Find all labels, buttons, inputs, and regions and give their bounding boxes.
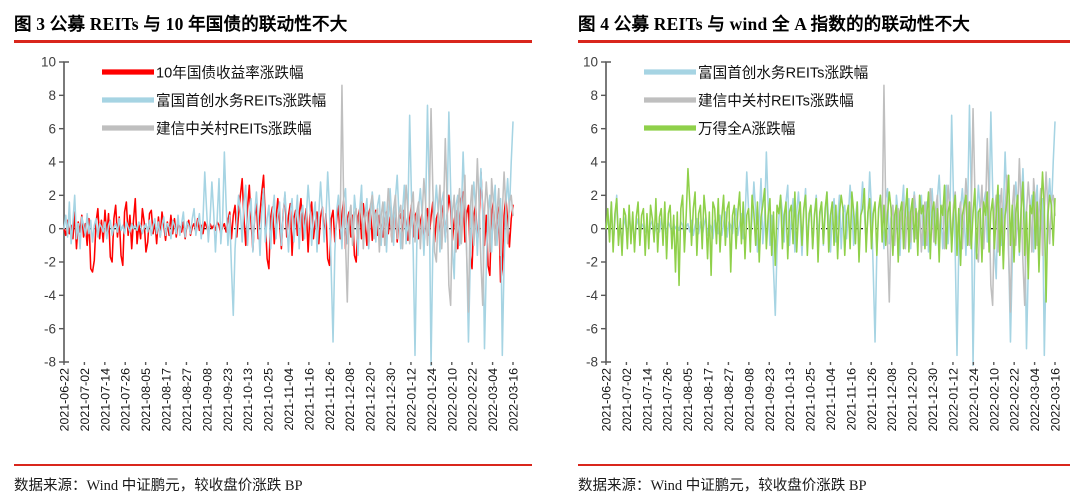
x-tick-label: 2021-12-30 (926, 368, 940, 431)
y-tick-label: 10 (41, 55, 56, 70)
x-tick-label: 2022-01-24 (967, 368, 981, 431)
y-tick-label: -2 (586, 255, 598, 270)
x-tick-label: 2021-09-23 (763, 368, 777, 431)
y-tick-label: 0 (48, 221, 56, 236)
x-tick-label: 2021-10-13 (783, 368, 797, 431)
legend-label-1: 建信中关村REITs涨跌幅 (698, 92, 854, 109)
y-tick-label: 6 (590, 121, 598, 136)
legend-label-0: 富国首创水务REITs涨跌幅 (698, 63, 868, 81)
x-tick-label: 2021-06-22 (58, 368, 72, 431)
x-tick-label: 2022-03-16 (1049, 368, 1063, 431)
figure-page: 图 3 公募 REITs 与 10 年国债的联动性不大 1086420-2-4-… (0, 0, 1080, 503)
x-tick-label: 2021-09-23 (221, 368, 235, 431)
y-tick-label: 2 (590, 188, 598, 203)
x-tick-label: 2021-10-25 (262, 368, 276, 431)
chart-4-svg: 1086420-2-4-6-82021-06-222021-07-022021-… (540, 46, 1080, 456)
x-tick-label: 2022-03-16 (507, 368, 521, 431)
x-tick-label: 2021-07-02 (78, 368, 92, 431)
x-tick-label: 2022-02-22 (1008, 368, 1022, 431)
x-tick-label: 2021-10-25 (804, 368, 818, 431)
x-tick-label: 2021-08-27 (722, 368, 736, 431)
x-tick-label: 2021-09-08 (200, 368, 214, 431)
figure-4-title: 图 4 公募 REITs 与 wind 全 A 指数的的联动性不大 (540, 0, 1080, 36)
legend-label-2: 建信中关村REITs涨跌幅 (156, 120, 312, 137)
x-tick-label: 2022-01-12 (404, 368, 418, 431)
figure-panel-left: 图 3 公募 REITs 与 10 年国债的联动性不大 1086420-2-4-… (0, 0, 540, 503)
x-tick-label: 2022-02-10 (445, 368, 459, 431)
y-tick-label: -6 (44, 321, 56, 336)
x-tick-label: 2021-08-05 (139, 368, 153, 431)
x-tick-label: 2022-03-04 (486, 368, 500, 431)
x-tick-label: 2021-11-04 (282, 368, 296, 431)
legend-label-0: 10年国债收益率涨跌幅 (156, 64, 304, 81)
y-tick-label: -4 (586, 288, 598, 303)
x-tick-label: 2022-02-22 (466, 368, 480, 431)
x-tick-label: 2021-06-22 (600, 368, 614, 431)
y-tick-label: -6 (586, 321, 598, 336)
x-tick-label: 2021-11-04 (824, 368, 838, 431)
x-tick-label: 2021-07-14 (98, 368, 112, 431)
x-tick-label: 2022-03-04 (1028, 368, 1042, 431)
y-tick-label: 0 (590, 221, 598, 236)
x-tick-label: 2021-08-17 (160, 368, 174, 431)
y-tick-label: 10 (583, 55, 598, 70)
y-tick-label: -8 (44, 355, 56, 370)
y-tick-label: 8 (48, 88, 56, 103)
x-tick-label: 2021-08-17 (702, 368, 716, 431)
x-tick-label: 2021-11-16 (844, 368, 858, 431)
chart-4-plot: 1086420-2-4-6-82021-06-222021-07-022021-… (540, 46, 1080, 456)
y-tick-label: -2 (44, 255, 56, 270)
figure-3-title: 图 3 公募 REITs 与 10 年国债的联动性不大 (0, 0, 540, 36)
chart-3-svg: 1086420-2-4-6-82021-06-222021-07-022021-… (0, 46, 540, 456)
legend-label-1: 富国首创水务REITs涨跌幅 (156, 91, 326, 109)
figure-3-source: 数据来源：Wind 中证鹏元，较收盘价涨跌 BP (14, 474, 303, 495)
x-tick-label: 2021-12-20 (906, 368, 920, 431)
footer-rule (14, 464, 532, 467)
legend-label-2: 万得全A涨跌幅 (698, 119, 795, 137)
x-tick-label: 2021-10-13 (241, 368, 255, 431)
y-tick-label: -4 (44, 288, 56, 303)
x-tick-label: 2022-02-10 (987, 368, 1001, 431)
footer-rule (578, 464, 1070, 467)
x-tick-label: 2021-07-02 (620, 368, 634, 431)
x-tick-label: 2021-09-08 (742, 368, 756, 431)
x-tick-label: 2021-12-20 (364, 368, 378, 431)
x-tick-label: 2022-01-24 (425, 368, 439, 431)
title-rule (578, 40, 1070, 43)
chart-3-plot: 1086420-2-4-6-82021-06-222021-07-022021-… (0, 46, 540, 456)
y-tick-label: 4 (590, 155, 598, 170)
x-tick-label: 2021-11-16 (302, 368, 316, 431)
y-tick-label: 2 (48, 188, 56, 203)
x-tick-label: 2021-07-26 (661, 368, 675, 431)
y-tick-label: 8 (590, 88, 598, 103)
x-tick-label: 2021-07-26 (119, 368, 133, 431)
figure-4-source: 数据来源：Wind 中证鹏元，较收盘价涨跌 BP (578, 474, 867, 495)
x-tick-label: 2021-08-05 (681, 368, 695, 431)
title-rule (14, 40, 532, 43)
x-tick-label: 2021-07-14 (640, 368, 654, 431)
x-tick-label: 2021-12-08 (885, 368, 899, 431)
x-tick-label: 2022-01-12 (946, 368, 960, 431)
x-tick-label: 2021-11-26 (865, 368, 879, 431)
y-tick-label: 4 (48, 155, 56, 170)
x-tick-label: 2021-12-30 (384, 368, 398, 431)
x-tick-label: 2021-11-26 (323, 368, 337, 431)
y-tick-label: -8 (586, 355, 598, 370)
x-tick-label: 2021-12-08 (343, 368, 357, 431)
figure-panel-right: 图 4 公募 REITs 与 wind 全 A 指数的的联动性不大 108642… (540, 0, 1080, 503)
x-tick-label: 2021-08-27 (180, 368, 194, 431)
y-tick-label: 6 (48, 121, 56, 136)
